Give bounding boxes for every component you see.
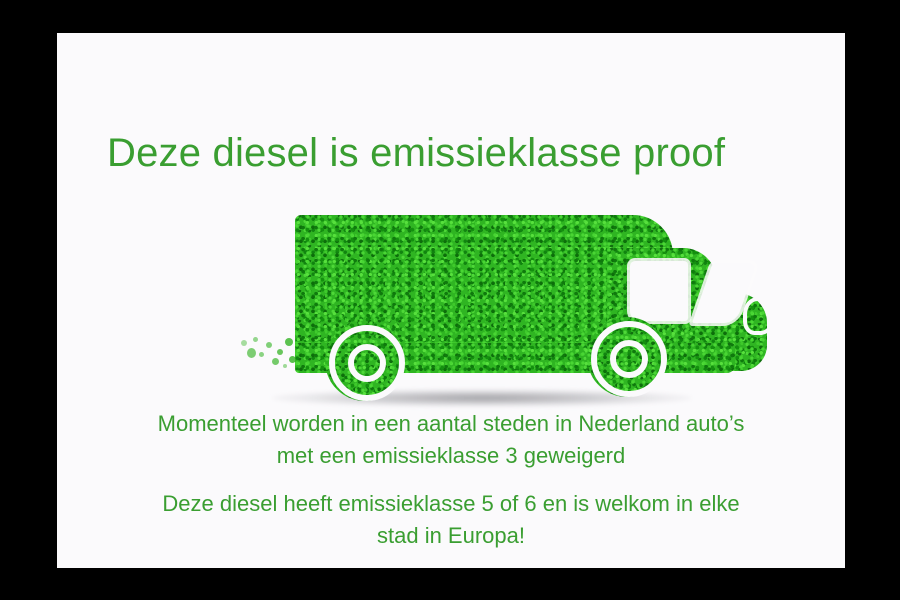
front-wheel bbox=[587, 317, 667, 397]
rear-wheel bbox=[325, 321, 405, 401]
screenshot-frame: Deze diesel is emissieklasse proof bbox=[0, 0, 900, 600]
copy-line: stad in Europa! bbox=[57, 520, 845, 552]
content-panel: Deze diesel is emissieklasse proof bbox=[57, 33, 845, 568]
copy-line: Momenteel worden in een aantal steden in… bbox=[57, 408, 845, 440]
side-mirror bbox=[743, 297, 775, 335]
copy-line: met een emissieklasse 3 geweigerd bbox=[57, 440, 845, 472]
door-window bbox=[630, 261, 688, 321]
page-title: Deze diesel is emissieklasse proof bbox=[107, 129, 807, 177]
copy-block-1: Momenteel worden in een aantal steden in… bbox=[57, 408, 845, 472]
van-illustration bbox=[187, 193, 787, 423]
copy-block-2: Deze diesel heeft emissieklasse 5 of 6 e… bbox=[57, 488, 845, 552]
copy-line: Deze diesel heeft emissieklasse 5 of 6 e… bbox=[57, 488, 845, 520]
